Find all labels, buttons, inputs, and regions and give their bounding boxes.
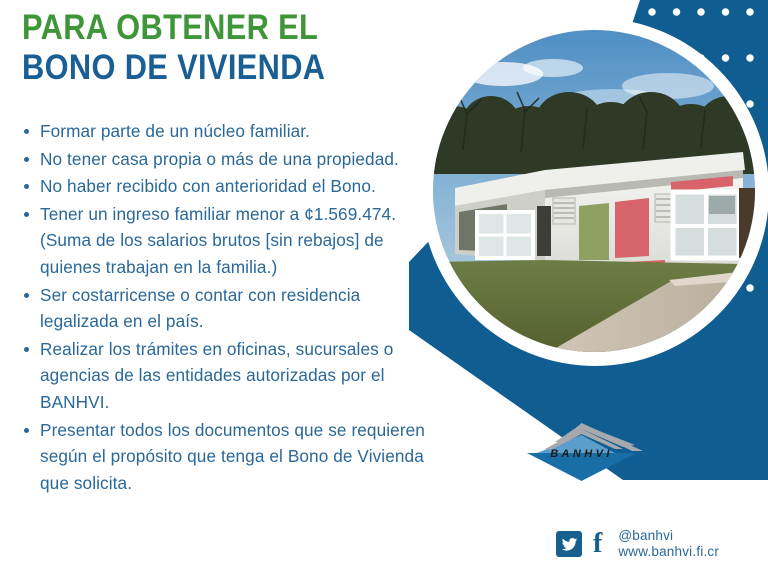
social-handles: @banhvi www.banhvi.fi.cr <box>618 528 719 560</box>
banhvi-diamond-logo: BANHVI <box>519 423 644 485</box>
list-item: No tener casa propia o más de una propie… <box>22 146 442 173</box>
twitter-icon[interactable] <box>556 531 582 557</box>
headline-line-2: BONO DE VIVIENDA <box>22 48 392 88</box>
social-handle[interactable]: @banhvi <box>618 528 719 544</box>
requirements-list: Formar parte de un núcleo familiar. No t… <box>22 118 442 497</box>
list-item: Tener un ingreso familiar menor a ¢1.569… <box>22 201 442 281</box>
social-footer: f @banhvi www.banhvi.fi.cr <box>556 528 719 560</box>
page-title: PARA OBTENER EL BONO DE VIVIENDA <box>22 8 442 88</box>
list-item: Presentar todos los documentos que se re… <box>22 417 442 497</box>
headline-line-1: PARA OBTENER EL <box>22 8 392 48</box>
facebook-icon[interactable]: f <box>593 531 602 557</box>
list-item: No haber recibido con anterioridad el Bo… <box>22 173 442 200</box>
website-url[interactable]: www.banhvi.fi.cr <box>618 544 719 560</box>
list-item: Formar parte de un núcleo familiar. <box>22 118 442 145</box>
poster-canvas: PARA OBTENER EL BONO DE VIVIENDA Formar … <box>0 0 768 577</box>
house-photo <box>433 30 755 352</box>
list-item: Ser costarricense o contar con residenci… <box>22 282 442 335</box>
list-item: Realizar los trámites en oficinas, sucur… <box>22 336 442 416</box>
logo-wordmark: BANHVI <box>550 448 613 460</box>
